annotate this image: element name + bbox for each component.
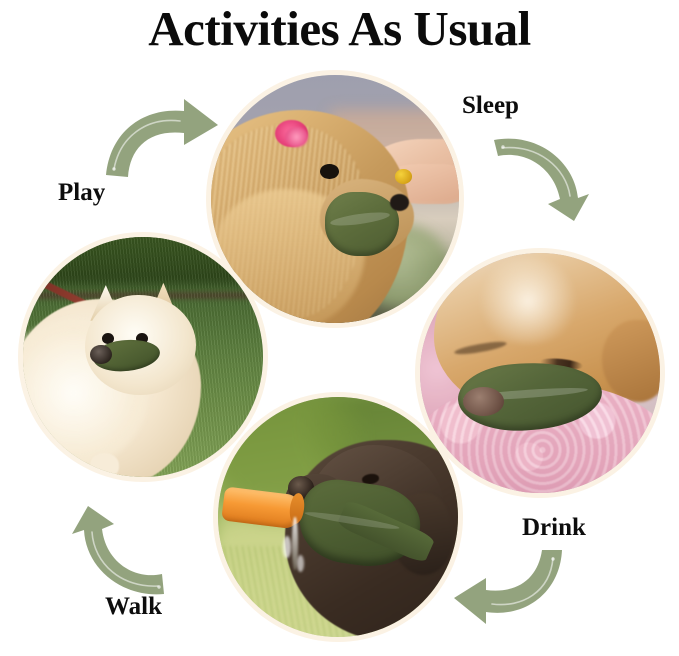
- arrow-drink-to-walk: [452, 540, 567, 630]
- photo-dog-drinking-water: [218, 397, 458, 637]
- page-title: Activities As Usual: [0, 2, 679, 56]
- dog-nose: [463, 387, 504, 416]
- label-drink: Drink: [522, 513, 586, 543]
- arrow-treat-to-sleep: [492, 122, 592, 222]
- photo-bubble-drink[interactable]: [213, 392, 463, 642]
- dog-treat: [395, 169, 412, 184]
- label-walk: Walk: [105, 592, 162, 622]
- dog-nose: [90, 345, 112, 364]
- infographic-canvas: Activities As Usual: [0, 0, 679, 656]
- label-sleep: Sleep: [462, 91, 519, 121]
- label-play: Play: [58, 178, 105, 208]
- dog-paw: [90, 453, 119, 477]
- arrow-play-to-treat: [100, 95, 225, 180]
- arrow-walk-to-play: [66, 498, 172, 600]
- dog-eye: [320, 164, 339, 179]
